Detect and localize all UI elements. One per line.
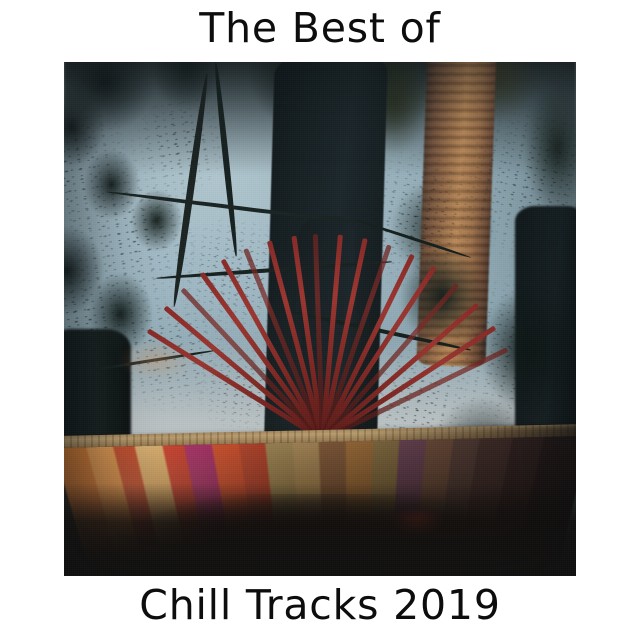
album-cover: The Best of [0, 0, 640, 640]
album-artwork-photo [64, 62, 576, 576]
bottom-shadow-band [64, 483, 576, 576]
album-title-top: The Best of [0, 8, 640, 49]
album-title-bottom: Chill Tracks 2019 [0, 585, 640, 626]
